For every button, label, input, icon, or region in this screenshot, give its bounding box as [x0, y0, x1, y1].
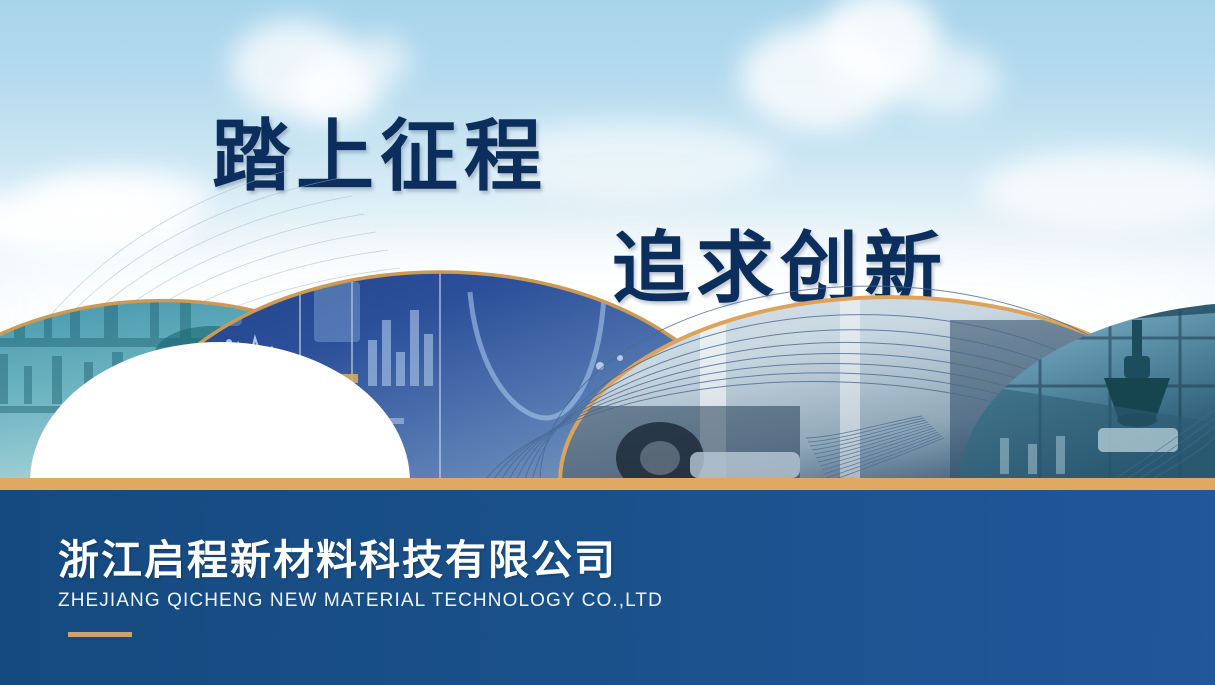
company-name-en: ZHEJIANG QICHENG NEW MATERIAL TECHNOLOGY… — [58, 590, 663, 612]
company-name-cn: 浙江启程新材料科技有限公司 — [58, 526, 617, 586]
footer-banner — [0, 490, 1215, 685]
cover-slide: 踏上征程 追求创新 — [0, 0, 1215, 685]
arc-image-band — [0, 170, 1215, 482]
arc-composition-svg — [0, 170, 1215, 482]
gold-divider-bar — [0, 478, 1215, 490]
cloud-shape — [890, 45, 1000, 115]
footer-accent-rule — [68, 632, 132, 637]
cloud-shape — [350, 35, 410, 87]
